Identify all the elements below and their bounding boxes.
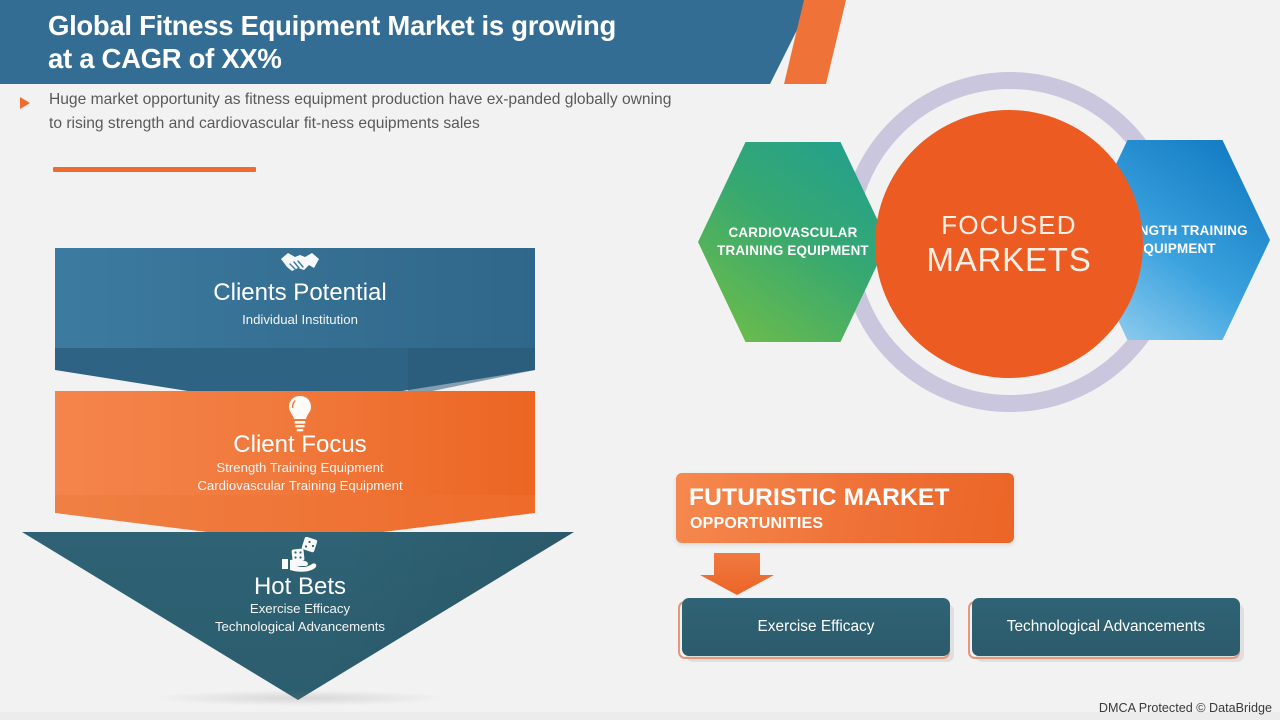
- funnel-stage-3-subtitle-line2: Technological Advancements: [0, 618, 600, 636]
- handshake-icon: [0, 248, 600, 283]
- down-arrow-icon: [700, 553, 774, 595]
- focused-markets-line2: MARKETS: [926, 243, 1091, 276]
- footer-copyright: DMCA Protected © DataBridge: [1099, 701, 1272, 715]
- hexagon-cardiovascular-label: CARDIOVASCULAR TRAINING EQUIPMENT: [698, 224, 888, 260]
- focused-markets-line1: FOCUSED: [941, 212, 1077, 238]
- funnel-stage-2-title: Client Focus: [0, 431, 600, 459]
- bottom-strip: [0, 712, 1280, 720]
- futuristic-card-2-label: Technological Advancements: [1007, 618, 1206, 636]
- funnel-stage-1-subtitle: Individual Institution: [0, 311, 600, 329]
- hand-dice-icon: [0, 537, 600, 578]
- slide-canvas: Global Fitness Equipment Market is growi…: [0, 0, 1280, 720]
- focused-markets-diagram: CARDIOVASCULAR TRAINING EQUIPMENT STRENG…: [680, 62, 1280, 422]
- funnel-stage-1-title: Clients Potential: [0, 279, 600, 307]
- funnel-stage-2-subtitle-line2: Cardiovascular Training Equipment: [0, 477, 600, 495]
- futuristic-card-exercise-efficacy[interactable]: Exercise Efficacy: [682, 598, 950, 656]
- futuristic-market-heading-line1: FUTURISTIC MARKET: [689, 484, 950, 512]
- funnel-stage-3-subtitle-line1: Exercise Efficacy: [0, 600, 600, 618]
- futuristic-card-1-label: Exercise Efficacy: [758, 618, 875, 636]
- funnel-stage-2-subtitle: Strength Training Equipment Cardiovascul…: [0, 459, 600, 494]
- focused-markets-label: FOCUSED MARKETS: [875, 110, 1143, 378]
- futuristic-market-header[interactable]: FUTURISTIC MARKET OPPORTUNITIES: [676, 473, 1014, 543]
- funnel-stage-2-subtitle-line1: Strength Training Equipment: [0, 459, 600, 477]
- funnel-stage-3-title: Hot Bets: [0, 573, 600, 601]
- futuristic-card-technological-advancements[interactable]: Technological Advancements: [972, 598, 1240, 656]
- funnel-stage-3-subtitle: Exercise Efficacy Technological Advancem…: [0, 600, 600, 635]
- funnel-drop-shadow: [150, 690, 450, 706]
- futuristic-market-heading-line2: OPPORTUNITIES: [690, 515, 823, 533]
- funnel-diagram: Clients Potential Individual Institution…: [0, 0, 600, 720]
